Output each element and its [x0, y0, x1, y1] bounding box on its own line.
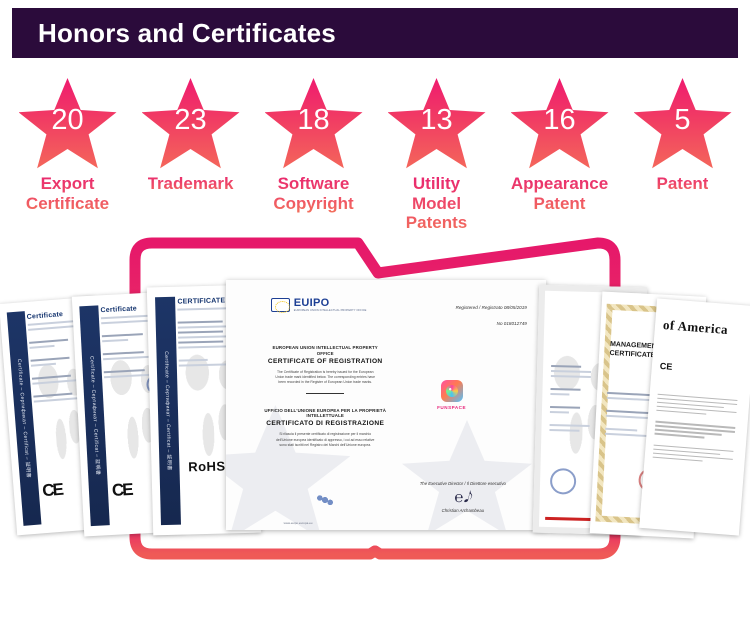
- text-line: [179, 359, 207, 362]
- header-bar: Honors and Certificates: [12, 8, 738, 58]
- stat-label: Trademark: [148, 174, 234, 194]
- stat-label: Utility Model Patents: [406, 174, 467, 233]
- text-line: [550, 411, 569, 413]
- text-line: [104, 369, 145, 373]
- euipo-heading-en-2: OFFICE: [258, 351, 392, 357]
- stat-trademark: 23 Trademark: [129, 78, 252, 243]
- star-icon: 5: [634, 78, 732, 172]
- stat-label-line: Patent: [657, 174, 709, 194]
- euipo-english-block: EUROPEAN UNION INTELLECTUAL PROPERTY OFF…: [258, 345, 392, 401]
- text-line: [606, 428, 638, 432]
- euipo-body-en: The Certificate of Registration is hereb…: [258, 370, 392, 386]
- ce-mark-icon: CE: [112, 480, 133, 501]
- stat-label: Software Copyright: [273, 174, 353, 213]
- stat-label-line: Appearance: [511, 174, 608, 194]
- certificate-fan: Certificate – Сертификат – Certificat – …: [0, 270, 750, 550]
- euipo-logo-subtitle: EUROPEAN UNION INTELLECTUAL PROPERTY OFF…: [294, 309, 367, 312]
- star-icon: 18: [265, 78, 363, 172]
- stat-appearance-patent: 16 Appearance Patent: [498, 78, 621, 243]
- star-icon: 16: [511, 78, 609, 172]
- certificate-euipo[interactable]: EUIPO EUROPEAN UNION INTELLECTUAL PROPER…: [226, 280, 546, 530]
- text-line: [549, 424, 589, 427]
- stat-patent: 5 Patent: [621, 78, 744, 243]
- blue-seal-icon: [549, 468, 576, 495]
- text-line: [178, 341, 223, 344]
- certificate-of-america[interactable]: of America CE: [639, 298, 750, 535]
- stat-label-line: Patent: [511, 194, 608, 214]
- text-line: [550, 393, 569, 395]
- text-line: [102, 339, 128, 342]
- text-line: [31, 374, 70, 379]
- star-watermark: [402, 420, 532, 530]
- stat-label-line: Model: [406, 194, 467, 214]
- stat-export-certificate: 20 Export Certificate: [6, 78, 129, 243]
- euipo-registration-info: Registered / Registrato 08/05/2019 No 01…: [456, 305, 527, 326]
- stat-label-line: Software: [273, 174, 353, 194]
- certificate-sidebar: Certificate – Сертификат – Certificat – …: [155, 297, 181, 526]
- registration-date: Registered / Registrato 08/05/2019: [456, 305, 527, 310]
- text-line: [103, 351, 144, 355]
- text-line: [550, 388, 580, 391]
- stat-count: 18: [265, 106, 363, 135]
- certificate-body: [652, 391, 741, 467]
- sidebar-vertical-text: Certificate – Сертификат – Certificat – …: [163, 351, 173, 471]
- euipo-url: www.euipo.europa.eu: [284, 521, 313, 525]
- text-line: [29, 345, 54, 349]
- euipo-logo: EUIPO EUROPEAN UNION INTELLECTUAL PROPER…: [271, 298, 367, 312]
- text-line: [102, 333, 143, 337]
- star-icon: 23: [142, 78, 240, 172]
- text-line: [30, 362, 55, 366]
- rohs-mark-icon: RoHS: [188, 459, 226, 475]
- text-line: [33, 392, 72, 397]
- text-line: [549, 429, 579, 432]
- divider: [306, 393, 344, 394]
- funspace-logo-icon: [441, 380, 463, 402]
- eu-emblem-icon: [312, 490, 338, 510]
- euipo-logo-word: EUIPO: [294, 298, 367, 309]
- sidebar-vertical-text: Certificate – Сертификат – Certificat – …: [16, 359, 32, 479]
- signature-block: The Executive Director / Il Direttore es…: [392, 481, 533, 512]
- registration-number: No 018012749: [456, 321, 527, 326]
- euipo-heading-it-big: CERTIFICATO DI REGISTRAZIONE: [258, 420, 392, 427]
- text-line: [178, 331, 223, 334]
- brand-mark: FUNSPACE: [428, 380, 476, 410]
- text-line: [178, 321, 223, 324]
- stat-label: Export Certificate: [26, 174, 109, 213]
- text-line: [29, 338, 68, 343]
- certificate-heading: CE: [659, 361, 672, 372]
- euipo-body-it: Si rilascia il presente certificato di r…: [258, 432, 392, 448]
- text-line: [551, 375, 591, 378]
- star-icon: 20: [19, 78, 117, 172]
- stat-utility-model-patents: 13 Utility Model Patents: [375, 78, 498, 243]
- euipo-italian-block: UFFICIO DELL'UNIONE EUROPEA PER LA PROPR…: [258, 408, 392, 449]
- stat-count: 20: [19, 106, 117, 135]
- stat-label-line: Copyright: [273, 194, 353, 214]
- text-line: [551, 370, 591, 373]
- page-title: Honors and Certificates: [12, 18, 336, 49]
- signature-role: The Executive Director / Il Direttore es…: [392, 481, 533, 487]
- stat-count: 13: [388, 106, 486, 135]
- star-icon: 13: [388, 78, 486, 172]
- certificate-title: of America: [662, 317, 749, 340]
- stat-label-line: Export: [26, 174, 109, 194]
- honors-and-certificates-page: Honors and Certificates 20 Export Certif…: [0, 0, 750, 633]
- stat-software-copyright: 18 Software Copyright: [252, 78, 375, 243]
- stat-count: 5: [634, 106, 732, 135]
- signature-name: Christian Archambeau: [392, 508, 533, 513]
- stat-label-line: Utility: [406, 174, 467, 194]
- euipo-heading-it-2: INTELLETTUALE: [258, 413, 392, 419]
- sidebar-vertical-text: Certificate – Сертификат – Certificat – …: [88, 356, 101, 476]
- eu-flag-icon: [271, 298, 290, 312]
- stat-label: Patent: [657, 174, 709, 194]
- stat-label-line: Certificate: [26, 194, 109, 214]
- stat-count: 16: [511, 106, 609, 135]
- ce-mark-icon: CE: [42, 479, 63, 500]
- brand-name: FUNSPACE: [428, 405, 476, 410]
- text-line: [30, 356, 69, 361]
- text-line: [551, 365, 581, 368]
- stat-label: Appearance Patent: [511, 174, 608, 213]
- certificate-body: [549, 362, 601, 435]
- stats-row: 20 Export Certificate 23 Trademark 18 So…: [0, 78, 750, 243]
- stat-count: 23: [142, 106, 240, 135]
- euipo-heading-en-big: CERTIFICATE OF REGISTRATION: [258, 358, 392, 365]
- stat-label-line: Trademark: [148, 174, 234, 194]
- text-line: [550, 406, 580, 409]
- signature-icon: ℮𝅘𝅥𝅮: [392, 491, 533, 506]
